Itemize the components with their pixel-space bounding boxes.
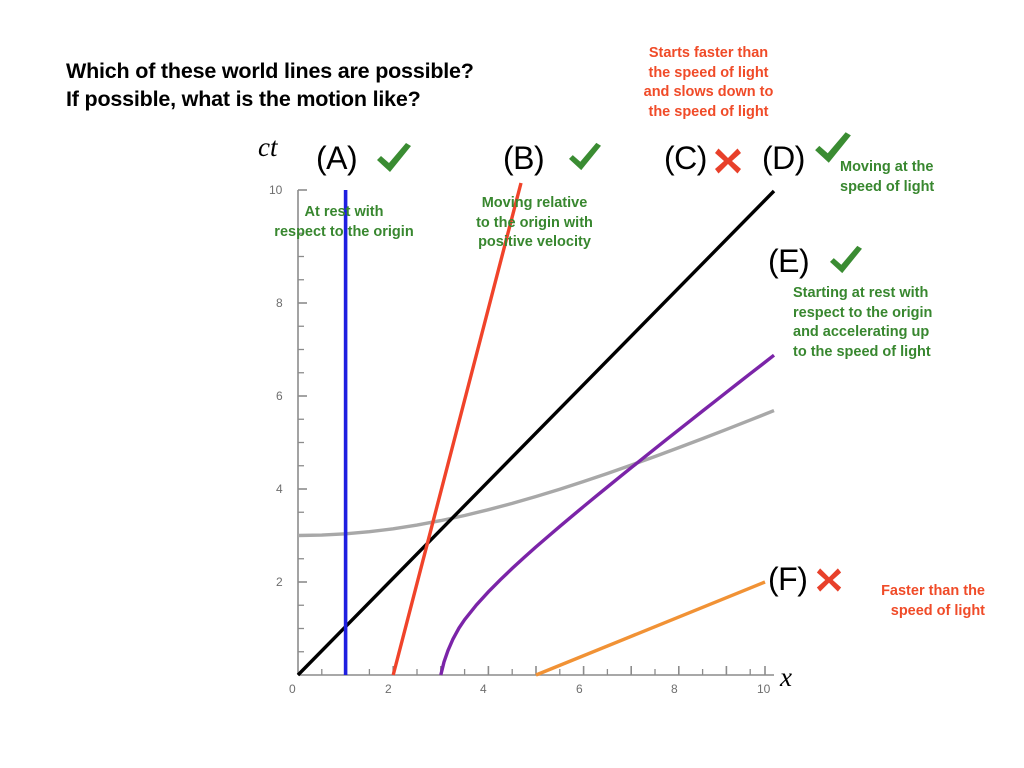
choice-label-b: (B) bbox=[503, 140, 544, 177]
question-heading: Which of these world lines are possible?… bbox=[66, 57, 474, 113]
y-tick-label-10: 10 bbox=[269, 183, 282, 197]
x-major-ticks bbox=[346, 666, 765, 675]
x-tick-label-2: 2 bbox=[385, 682, 392, 696]
world-line-d-curve bbox=[298, 191, 774, 675]
y-tick-label-8: 8 bbox=[276, 296, 283, 310]
x-axis-label: x bbox=[780, 662, 792, 693]
spacetime-diagram bbox=[0, 0, 1024, 768]
x-tick-label-6: 6 bbox=[576, 682, 583, 696]
annotation-e: Starting at rest with respect to the ori… bbox=[793, 284, 1008, 362]
y-axis-label: ct bbox=[258, 132, 278, 163]
x-tick-label-8: 8 bbox=[671, 682, 678, 696]
choice-label-d: (D) bbox=[762, 140, 805, 177]
annotation-d: Moving at the speed of light bbox=[840, 158, 1020, 197]
annotation-b: Moving relative to the origin with posit… bbox=[457, 194, 612, 253]
y-minor-ticks bbox=[298, 233, 304, 652]
check-icon bbox=[567, 141, 603, 173]
choice-label-a: (A) bbox=[316, 140, 357, 177]
annotation-f: Faster than the speed of light bbox=[800, 582, 985, 621]
world-line-f-curve bbox=[536, 582, 765, 675]
y-major-ticks bbox=[298, 190, 307, 582]
question-line-2: If possible, what is the motion like? bbox=[66, 85, 474, 113]
annotation-a: At rest with respect to the origin bbox=[246, 203, 442, 242]
question-line-1: Which of these world lines are possible? bbox=[66, 57, 474, 85]
check-icon bbox=[828, 244, 864, 276]
x-tick-label-0: 0 bbox=[289, 682, 296, 696]
choice-label-c: (C) bbox=[664, 140, 707, 177]
world-line-e-curve bbox=[441, 355, 774, 675]
y-tick-label-6: 6 bbox=[276, 389, 283, 403]
cross-icon bbox=[713, 146, 743, 176]
y-tick-label-2: 2 bbox=[276, 575, 283, 589]
y-tick-label-4: 4 bbox=[276, 482, 283, 496]
choice-label-e: (E) bbox=[768, 243, 809, 280]
world-line-b-curve bbox=[393, 183, 521, 675]
check-icon bbox=[375, 141, 413, 175]
x-tick-label-10: 10 bbox=[757, 682, 770, 696]
x-minor-ticks bbox=[322, 669, 750, 675]
world-line-c-curve bbox=[298, 411, 774, 536]
x-tick-label-4: 4 bbox=[480, 682, 487, 696]
annotation-c: Starts faster than the speed of light an… bbox=[621, 44, 796, 122]
